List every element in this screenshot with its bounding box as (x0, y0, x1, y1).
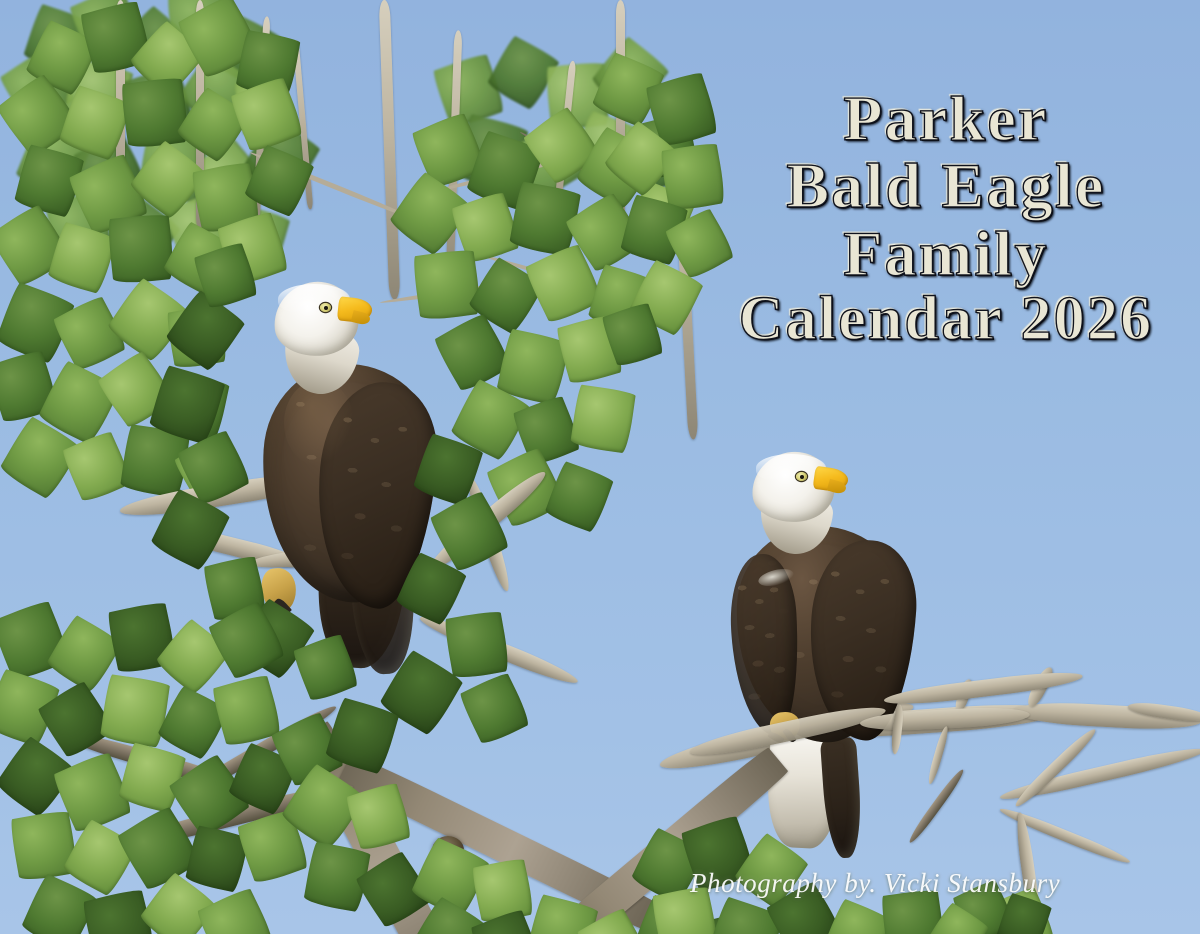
lower-eagle (712, 448, 942, 848)
upper-eagle (240, 272, 470, 672)
title-line-1: Parker (700, 86, 1192, 151)
title-line-2: Bald Eagle (700, 153, 1192, 218)
title-line-3: Family (700, 221, 1192, 286)
title-line-4: Calendar 2026 (700, 288, 1192, 351)
photo-credit: Photography by. Vicki Stansbury (690, 868, 1060, 899)
cover-title: Parker Bald Eagle Family Calendar 2026 (700, 86, 1192, 353)
calendar-cover: Parker Bald Eagle Family Calendar 2026 P… (0, 0, 1200, 934)
